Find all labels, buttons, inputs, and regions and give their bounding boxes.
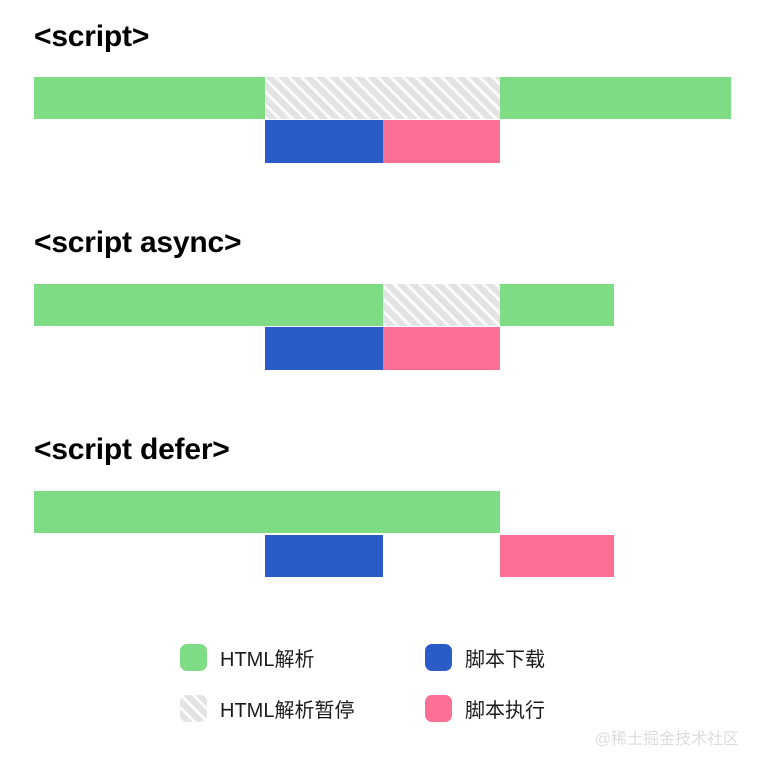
legend-label-script-execute: 脚本执行 — [465, 694, 545, 723]
sync-script-download-segment — [265, 120, 383, 163]
watermark: @稀土掘金技术社区 — [595, 725, 739, 749]
sync-html-parse-paused-segment — [265, 77, 500, 119]
section-title-sync: <script> — [34, 22, 149, 52]
async-html-parse-paused-segment — [383, 284, 500, 326]
legend-label-html-parse-paused: HTML解析暂停 — [220, 694, 354, 723]
legend-label-script-download: 脚本下载 — [465, 643, 545, 672]
legend: HTML解析 脚本下载 HTML解析暂停 脚本执行 — [180, 643, 600, 735]
sync-html-parse-segment-2 — [500, 77, 731, 119]
defer-script-execute-segment — [500, 535, 614, 577]
legend-item-html-parse: HTML解析 — [180, 643, 314, 672]
async-html-parse-segment-2 — [500, 284, 614, 326]
defer-script-download-segment — [265, 535, 383, 577]
section-title-async: <script async> — [34, 228, 241, 258]
sync-html-parse-segment-1 — [34, 77, 265, 119]
legend-swatch-html-parse-icon — [180, 644, 207, 671]
async-script-download-segment — [265, 327, 383, 370]
legend-label-html-parse: HTML解析 — [220, 643, 314, 672]
legend-swatch-script-download-icon — [425, 644, 452, 671]
legend-swatch-html-parse-paused-icon — [180, 695, 207, 722]
async-script-execute-segment — [383, 327, 500, 370]
legend-item-script-download: 脚本下载 — [425, 643, 545, 672]
legend-item-html-parse-paused: HTML解析暂停 — [180, 694, 354, 723]
section-title-defer: <script defer> — [34, 435, 230, 465]
sync-script-execute-segment — [383, 120, 500, 163]
legend-item-script-execute: 脚本执行 — [425, 694, 545, 723]
legend-swatch-script-execute-icon — [425, 695, 452, 722]
diagram-canvas: <script> <script async> <script defer> H… — [0, 0, 763, 761]
defer-html-parse-segment — [34, 491, 500, 533]
async-html-parse-segment-1 — [34, 284, 383, 326]
